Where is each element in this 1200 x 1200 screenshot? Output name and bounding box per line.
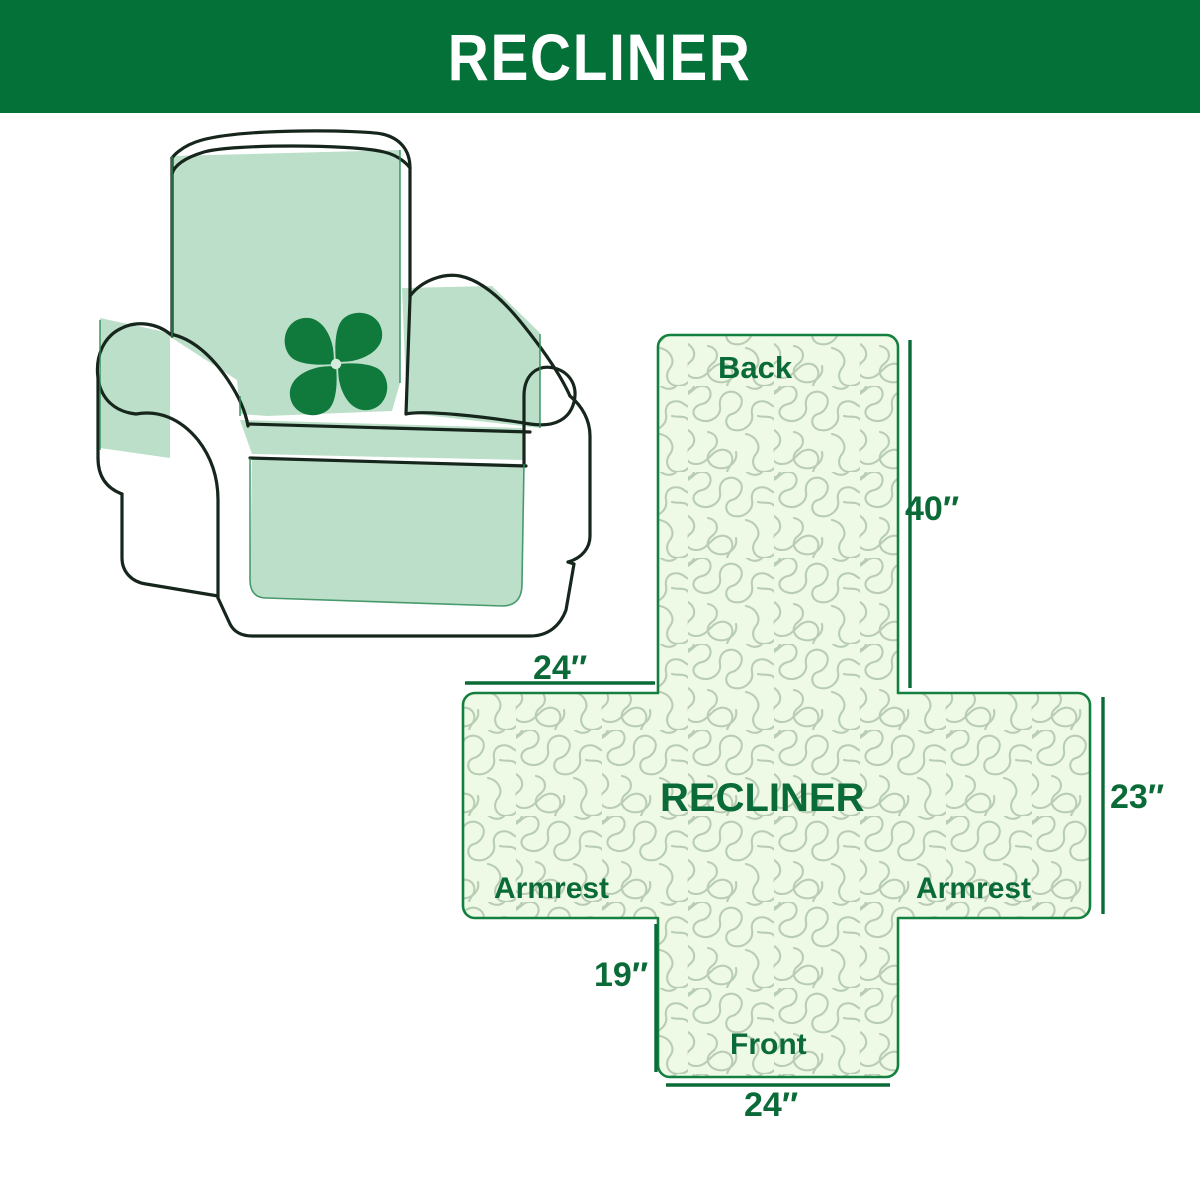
panel-label-armrest-left: Armrest — [494, 874, 609, 904]
header-banner: RECLINER — [0, 0, 1200, 113]
cover-pattern-diagram — [430, 300, 1190, 1140]
product-size-diagram-page: RECLINER — [0, 0, 1200, 1200]
dimension-label-middle-height: 23″ — [1110, 780, 1164, 814]
page-title: RECLINER — [448, 24, 752, 90]
panel-label-front: Front — [730, 1030, 807, 1060]
panel-label-armrest-right: Armrest — [916, 874, 1031, 904]
dimension-label-front-height: 19″ — [594, 958, 648, 992]
panel-label-recliner: RECLINER — [660, 778, 864, 818]
cover-cross-shape — [463, 335, 1090, 1077]
dimension-label-back-width: 24″ — [533, 651, 587, 685]
dimension-label-front-width: 24″ — [744, 1088, 798, 1122]
panel-label-back: Back — [718, 352, 792, 383]
dimension-label-back-height: 40″ — [905, 492, 959, 526]
